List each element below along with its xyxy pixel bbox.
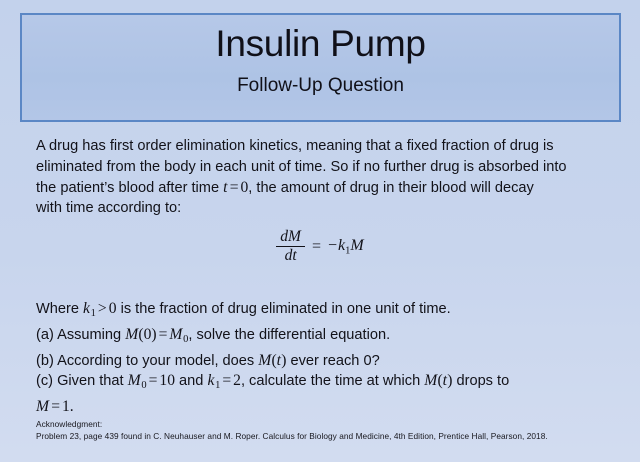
fraction-denominator: dt [281,247,301,264]
equation-minus-sign: − [328,237,338,254]
equation-equals-sign: = [305,238,328,256]
question-c-suffix: drops to [452,373,509,389]
question-c-m: M [424,372,437,389]
question-c-equals-1: = [147,372,160,389]
where-greater-than: > [96,300,109,317]
intro-line-3-text-a: the patient’s blood after time [36,180,223,196]
question-item-c: (c) Given that M0=10 and k1=2, calculate… [36,371,614,397]
question-b-suffix: ever reach 0? [286,353,379,369]
acknowledgment-heading: Acknowledgment: [36,418,621,430]
question-c-last-value: 1 [62,398,70,415]
question-c-last-m: M [36,398,49,415]
equation-right-side: −k1M [328,237,364,257]
question-a-m: M [125,326,138,343]
question-c-value-1: 10 [159,372,175,389]
where-suffix: is the fraction of drug eliminated in on… [117,301,451,317]
question-c-m0: M [128,372,141,389]
page-subtitle: Follow-Up Question [22,75,619,98]
question-b-m: M [258,352,271,369]
where-zero: 0 [109,300,117,317]
fraction-numerator: dM [276,229,305,246]
slide-canvas: Insulin Pump Follow-Up Question A drug h… [0,0,640,462]
question-c-last-period: . [70,398,74,415]
question-c-m0-subscript: 0 [141,380,147,391]
questions-list: Where k1>0 is the fraction of drug elimi… [36,299,614,418]
acknowledgment-block: Acknowledgment: Problem 23, page 439 fou… [36,418,621,442]
intro-line-3: the patient’s blood after time t=0, the … [36,178,614,199]
display-equation: dM dt = −k1M [0,228,640,265]
equation-row: dM dt = −k1M [276,229,363,265]
derivative-fraction: dM dt [276,229,305,265]
intro-line-4: with time according to: [36,198,614,219]
where-clause: Where k1>0 is the fraction of drug elimi… [36,299,614,325]
question-c-middle: , calculate the time at which [241,373,424,389]
question-c-last-equals: = [49,398,62,415]
question-a-suffix: , solve the differential equation. [188,327,390,343]
question-a-equals: = [157,326,170,343]
where-prefix: Where [36,301,83,317]
acknowledgment-citation: Problem 23, page 439 found in C. Neuhaus… [36,430,621,442]
question-c-and: and [175,373,207,389]
question-c-k: k [207,372,214,389]
intro-line-2: eliminated from the body in each unit of… [36,157,614,178]
equation-rhs-tail: M [350,237,363,254]
intro-line-1: A drug has first order elimination kinet… [36,136,614,157]
math-equals: = [228,179,241,196]
page-title: Insulin Pump [22,23,619,66]
intro-paragraph: A drug has first order elimination kinet… [36,136,614,219]
question-c-continuation: M=1. [36,397,614,418]
question-c-label: (c) Given that [36,373,128,389]
question-a-label: (a) Assuming [36,327,125,343]
question-b-label: (b) According to your model, does [36,353,258,369]
question-a-paren-close: ) [151,326,156,343]
title-box: Insulin Pump Follow-Up Question [20,13,621,122]
question-item-a: (a) Assuming M(0)=M0, solve the differen… [36,325,614,351]
question-c-equals-2: = [220,372,233,389]
intro-line-3-text-b: , the amount of drug in their blood will… [248,180,534,196]
question-c-value-2: 2 [233,372,241,389]
question-a-m0: M [169,326,182,343]
question-item-b: (b) According to your model, does M(t) e… [36,351,614,372]
math-var-t: t [223,179,228,196]
